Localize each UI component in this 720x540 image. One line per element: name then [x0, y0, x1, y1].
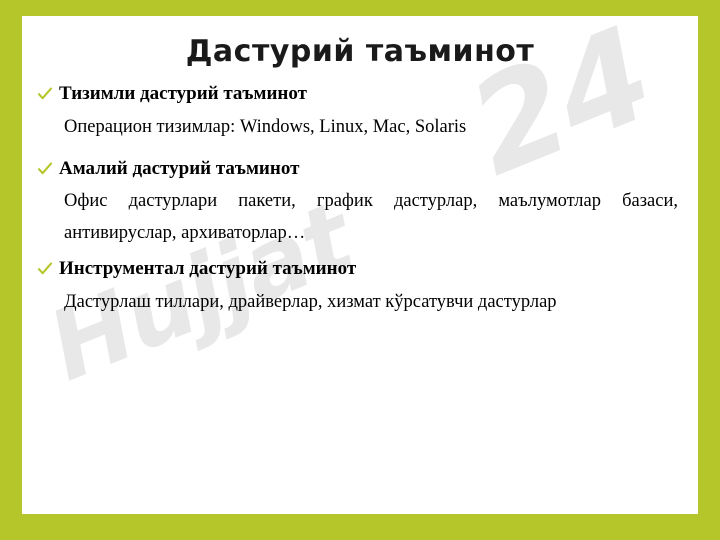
slide-body: Тизимли дастурий таъминот Операцион тизи… — [22, 69, 698, 319]
bullet-item-2: Амалий дастурий таъминот Офис дастурлари… — [38, 158, 682, 250]
bullet-item-1: Тизимли дастурий таъминот Операцион тизи… — [38, 83, 682, 144]
bullet-heading-1: Тизимли дастурий таъминот — [59, 83, 307, 106]
bullet-text-3: Дастурлаш тиллари, драйверлар, хизмат кў… — [64, 287, 682, 319]
check-icon — [38, 162, 52, 178]
bullet-heading-3: Инструментал дастурий таъминот — [59, 258, 356, 281]
slide-content-area: Hujjat 24 Дастурий таъминот Тизимли даст… — [22, 16, 698, 514]
check-icon — [38, 262, 52, 278]
bullet-text-2: Офис дастурлари пакети, график дастурлар… — [64, 186, 682, 250]
bullet-heading-row-1: Тизимли дастурий таъминот — [38, 83, 682, 106]
slide-title: Дастурий таъминот — [22, 16, 698, 69]
check-icon — [38, 87, 52, 103]
bullet-heading-2: Амалий дастурий таъминот — [59, 158, 299, 181]
slide: Hujjat 24 Дастурий таъминот Тизимли даст… — [0, 0, 720, 540]
bullet-item-3: Инструментал дастурий таъминот Дастурлаш… — [38, 258, 682, 319]
bullet-text-1: Операцион тизимлар: Windows, Linux, Mac,… — [64, 112, 682, 144]
bullet-heading-row-3: Инструментал дастурий таъминот — [38, 258, 682, 281]
bullet-heading-row-2: Амалий дастурий таъминот — [38, 158, 682, 181]
